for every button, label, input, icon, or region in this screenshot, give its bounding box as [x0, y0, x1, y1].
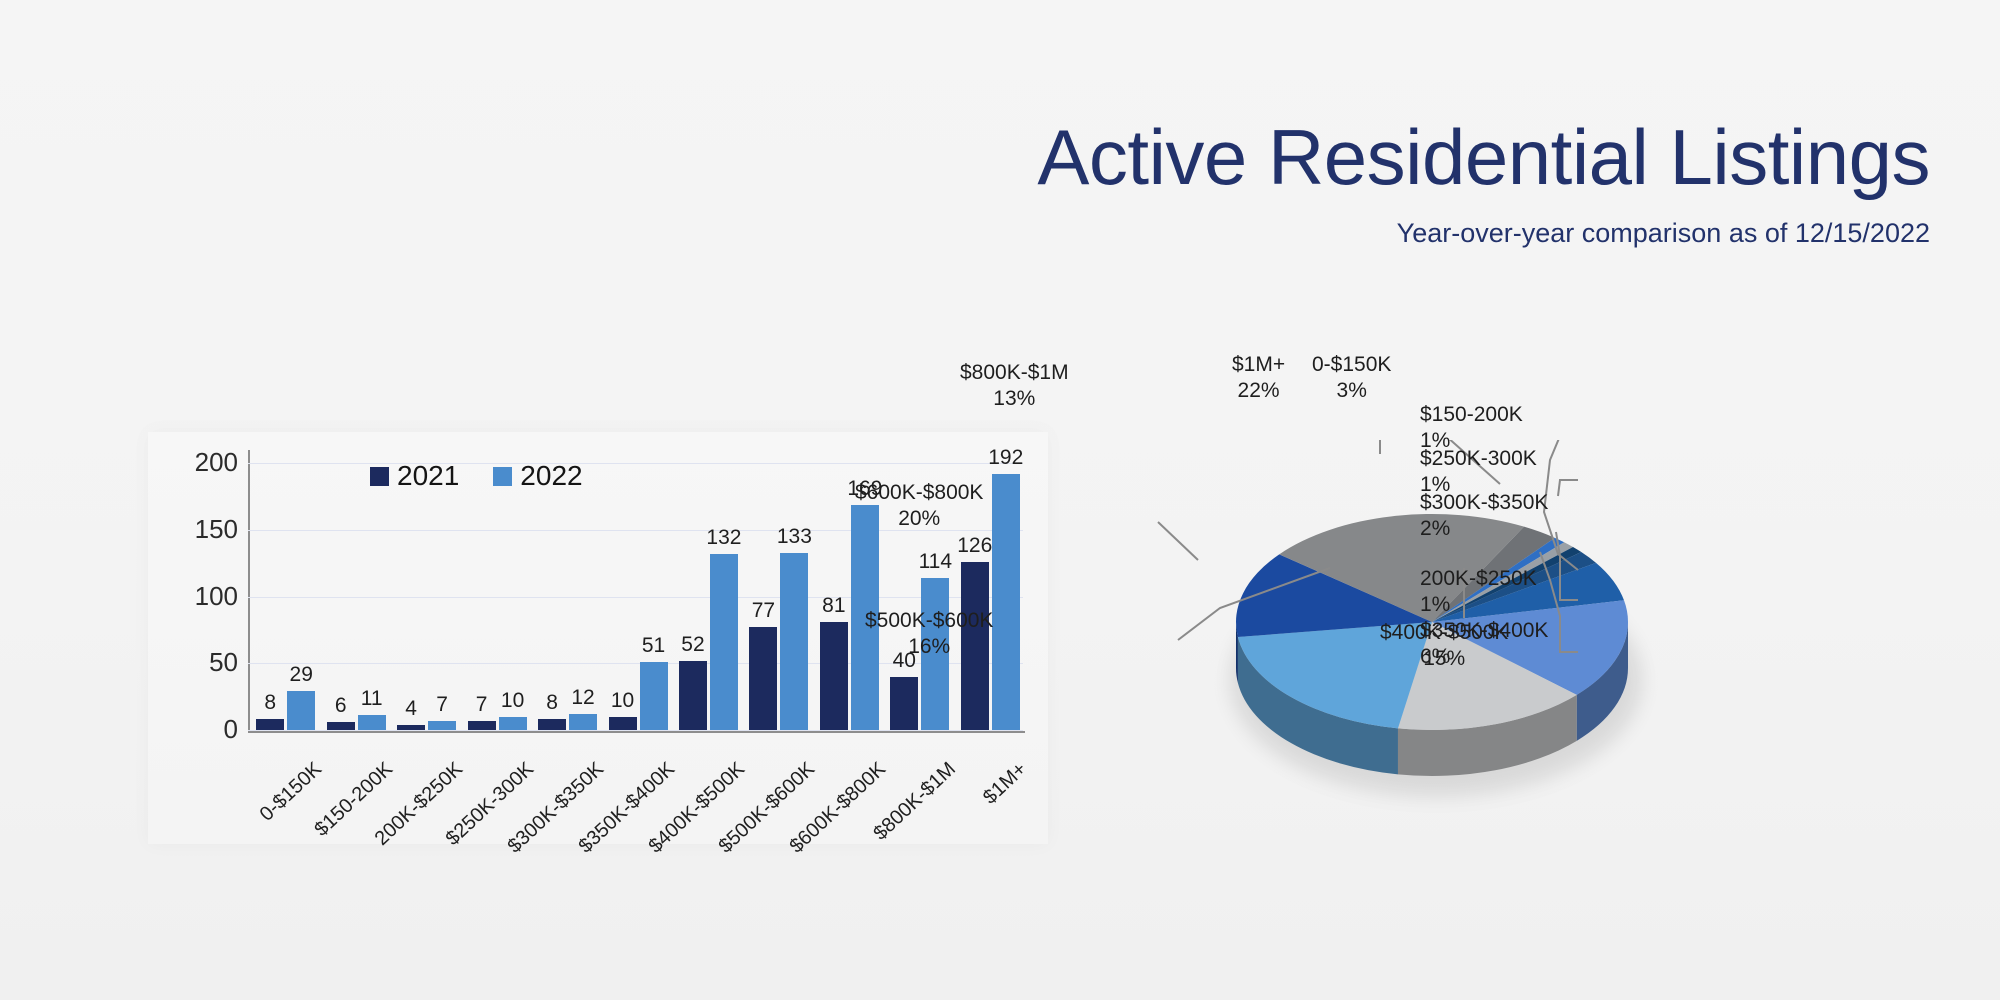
pie-callout-percent: 13% — [960, 386, 1069, 412]
y-axis-tick-label: 150 — [158, 514, 238, 545]
bar-2022[interactable] — [428, 721, 456, 730]
bar-2021[interactable] — [820, 622, 848, 730]
legend-label-2021: 2021 — [397, 460, 459, 492]
bar-2021[interactable] — [256, 719, 284, 730]
bar-value-label: 192 — [978, 446, 1034, 470]
legend-item-2022[interactable]: 2022 — [493, 460, 582, 492]
bar-group[interactable]: 52132 — [678, 450, 742, 730]
bar-group[interactable]: 47 — [396, 450, 460, 730]
pie-callout-$500K-$600K: $500K-$600K16% — [865, 608, 993, 659]
y-axis-tick-label: 200 — [158, 447, 238, 478]
bar-group[interactable]: 77133 — [748, 450, 812, 730]
bar-2021[interactable] — [749, 627, 777, 730]
bar-group[interactable]: 812 — [537, 450, 601, 730]
page-subtitle: Year-over-year comparison as of 12/15/20… — [0, 196, 1930, 249]
bar-group[interactable]: 1051 — [608, 450, 672, 730]
bar-2022[interactable] — [499, 717, 527, 730]
page-title: Active Residential Listings — [0, 0, 1930, 196]
pie-callout-name: $600K-$800K — [855, 481, 983, 504]
bar-2021[interactable] — [609, 717, 637, 730]
pie-callout-$800K-$1M: $800K-$1M13% — [960, 360, 1069, 411]
pie-callout-name: $800K-$1M — [960, 361, 1069, 384]
pie-callout-name: $1M+ — [1232, 353, 1285, 376]
x-axis-category-label: $1M+ — [979, 758, 1032, 809]
bar-2021[interactable] — [538, 719, 566, 730]
bar-group[interactable]: 829 — [255, 450, 319, 730]
legend-swatch-2022 — [493, 467, 512, 486]
legend-swatch-2021 — [370, 467, 389, 486]
y-axis-tick-label: 100 — [158, 581, 238, 612]
pie-callout-percent: 22% — [1232, 378, 1285, 404]
bar-2022[interactable] — [780, 553, 808, 730]
x-axis-line — [248, 731, 1025, 733]
pie-callout-name: $300K-$350K — [1420, 491, 1548, 514]
gridline — [248, 730, 1023, 731]
pie-callout-percent: 1% — [1420, 592, 1537, 618]
pie-callout-percent: 16% — [865, 634, 993, 660]
pie-callout-$350K-$400K: $350K-$400K6% — [1420, 618, 1548, 669]
bar-2022[interactable] — [710, 554, 738, 730]
infographic-root: { "header": { "title": "Active Residenti… — [0, 0, 2000, 1000]
pie-callout-percent: 20% — [855, 506, 983, 532]
pie-callout-200K-$250K: 200K-$250K1% — [1420, 566, 1537, 617]
pie-callout-percent: 2% — [1420, 516, 1548, 542]
y-axis-tick-label: 0 — [158, 714, 238, 745]
pie-leader-line — [1158, 522, 1198, 560]
y-axis-tick-label: 50 — [158, 647, 238, 678]
pie-chart: $800K-$1M13%$600K-$800K20%$500K-$600K16%… — [1080, 440, 1980, 880]
bar-2022[interactable] — [992, 474, 1020, 730]
bar-value-label: 29 — [273, 663, 329, 687]
pie-callout-name: $500K-$600K — [865, 609, 993, 632]
bar-2022[interactable] — [569, 714, 597, 730]
bar-2022[interactable] — [640, 662, 668, 730]
pie-callout-$1M+: $1M+22% — [1232, 352, 1285, 403]
bar-2021[interactable] — [679, 661, 707, 730]
pie-callout-$300K-$350K: $300K-$350K2% — [1420, 490, 1548, 541]
bar-value-label: 132 — [696, 526, 752, 550]
bar-2021[interactable] — [468, 721, 496, 730]
bar-value-label: 133 — [766, 525, 822, 549]
pie-callout-0-$150K: 0-$150K3% — [1312, 352, 1391, 403]
pie-callout-$600K-$800K: $600K-$800K20% — [855, 480, 983, 531]
bar-2022[interactable] — [287, 691, 315, 730]
bar-group[interactable]: 611 — [326, 450, 390, 730]
pie-callout-name: $250K-300K — [1420, 447, 1537, 470]
bar-2021[interactable] — [327, 722, 355, 730]
legend-item-2021[interactable]: 2021 — [370, 460, 459, 492]
pie-callout-percent: 6% — [1420, 644, 1548, 670]
bar-2021[interactable] — [890, 677, 918, 730]
pie-leader-line — [1342, 440, 1380, 454]
bar-2022[interactable] — [358, 715, 386, 730]
bar-group[interactable]: 710 — [467, 450, 531, 730]
pie-callout-name: $150-200K — [1420, 403, 1523, 426]
pie-callout-percent: 3% — [1312, 378, 1391, 404]
pie-callout-name: 0-$150K — [1312, 353, 1391, 376]
x-axis-category-label: 0-$150K — [256, 758, 327, 826]
pie-callout-name: 200K-$250K — [1420, 567, 1537, 590]
bar-chart-legend: 2021 2022 — [370, 460, 583, 492]
legend-label-2022: 2022 — [520, 460, 582, 492]
header: Active Residential Listings Year-over-ye… — [0, 0, 2000, 249]
pie-leader-line — [1558, 480, 1578, 496]
pie-callout-name: $350K-$400K — [1420, 619, 1548, 642]
bar-2021[interactable] — [397, 725, 425, 730]
